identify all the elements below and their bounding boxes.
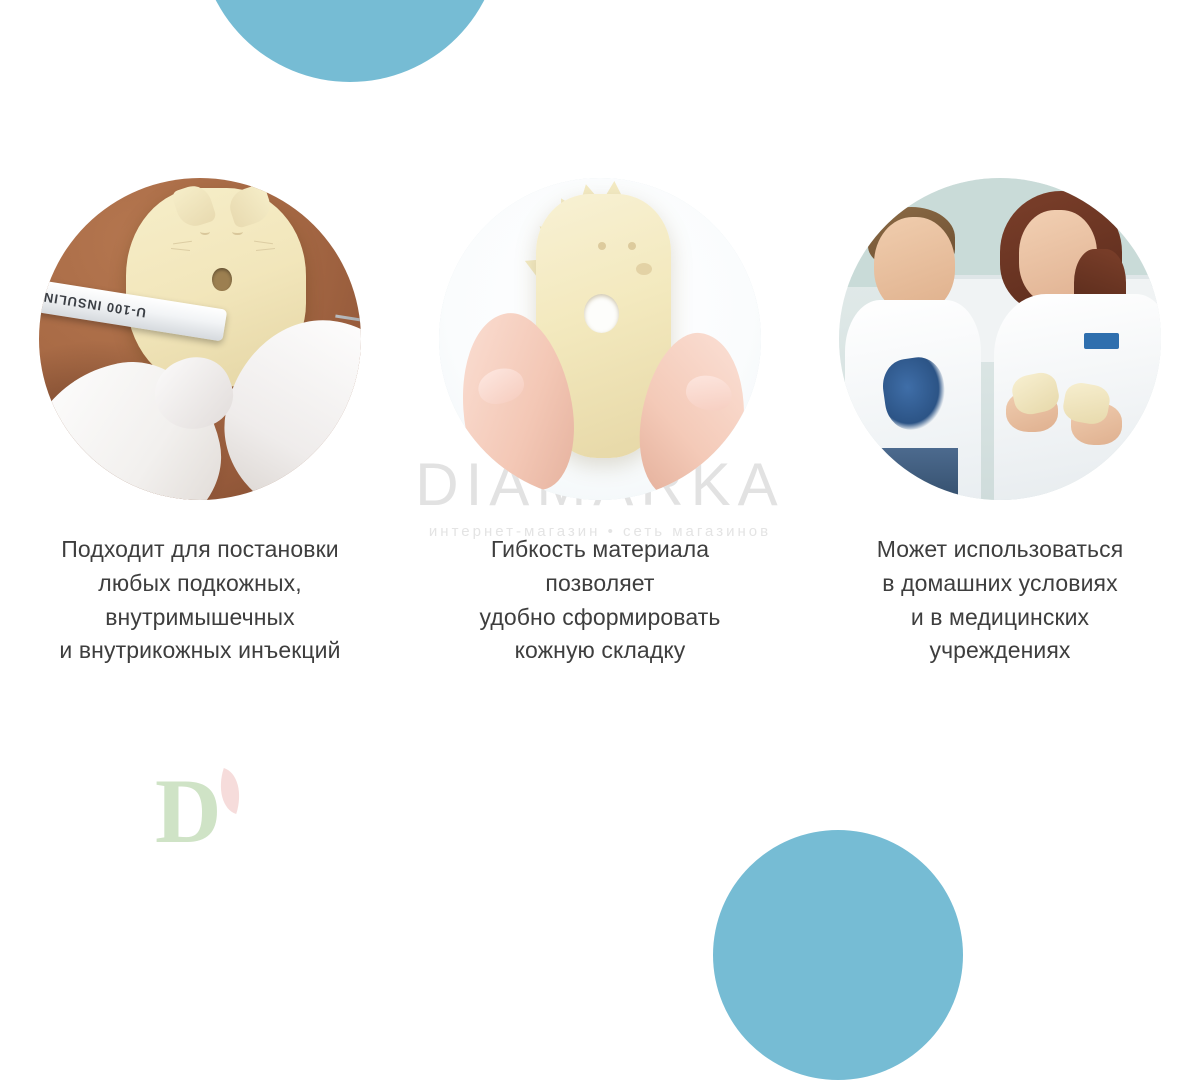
boy-head (874, 217, 955, 314)
cat-eye-right (232, 228, 242, 234)
pad-injection-hole (212, 268, 232, 292)
cat-whisker-2 (171, 248, 190, 251)
photo-injection: U-100 INSULIN (39, 178, 361, 500)
feature-column-3: Может использоваться в домашних условиях… (830, 178, 1170, 668)
feature-caption-2: Гибкость материала позволяет удобно сфор… (480, 533, 721, 668)
cat-whisker-3 (254, 241, 273, 245)
photo-clinic (839, 178, 1161, 500)
bottom-blue-circle (713, 830, 963, 1080)
cat-eye-left (200, 228, 210, 234)
feature-column-2: Гибкость материала позволяет удобно сфор… (430, 178, 770, 668)
top-blue-circle (199, 0, 501, 82)
cat-whisker-1 (173, 241, 192, 245)
hedgehog-eye-right (628, 242, 636, 250)
hedgehog-nose (636, 263, 652, 275)
photo-hedgehog (439, 178, 761, 500)
feature-caption-1: Подходит для постановки любых подкожных,… (59, 533, 340, 668)
feature-columns: U-100 INSULIN Подходит для постановки лю… (0, 178, 1200, 668)
feature-caption-3: Может использоваться в домашних условиях… (877, 533, 1124, 668)
hedgehog-eye-left (598, 242, 606, 250)
pad-injection-hole (584, 294, 619, 333)
feature-column-1: U-100 INSULIN Подходит для постановки лю… (30, 178, 370, 668)
boy-jeans (855, 448, 958, 500)
cat-whisker-4 (256, 248, 275, 251)
logo-letter: D (155, 765, 221, 857)
nurse-badge (1084, 333, 1119, 349)
cat-face (191, 220, 256, 264)
brand-logo: D (155, 765, 275, 860)
